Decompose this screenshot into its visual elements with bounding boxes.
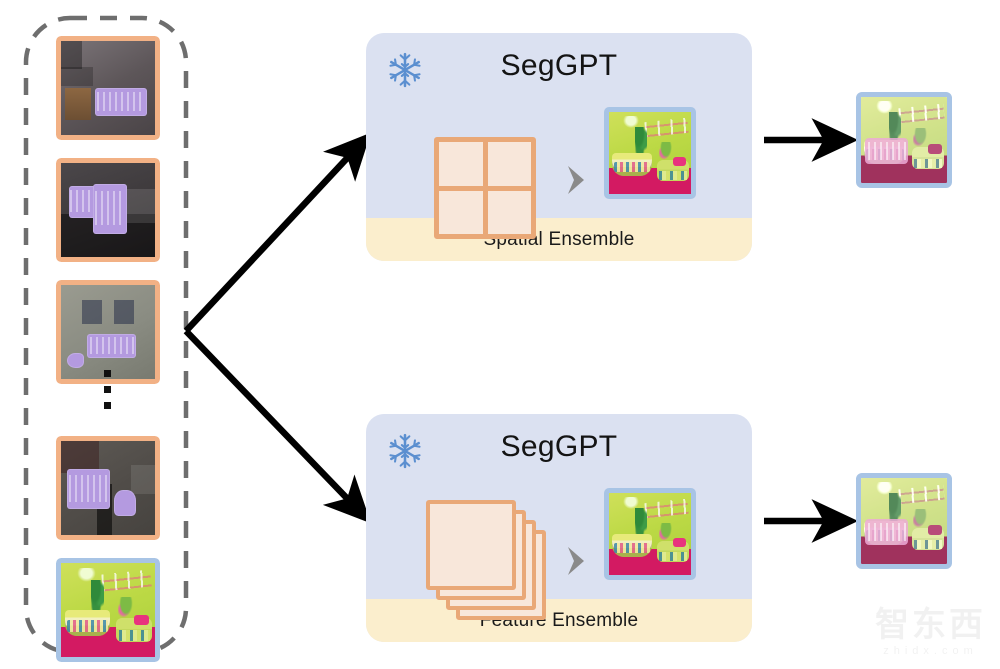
example-image-3 (61, 285, 155, 379)
chevron-right-icon (562, 163, 592, 197)
example-thumbnail-n (56, 436, 160, 540)
example-image-1 (61, 41, 155, 135)
list-item[interactable] (56, 158, 160, 262)
example-thumbnail-2 (56, 158, 160, 262)
feature-stack-graphic (426, 500, 566, 620)
watermark-en: zhidx.com (875, 645, 986, 657)
example-thumbnail-1 (56, 36, 160, 140)
feature-input-preview (604, 488, 696, 580)
spatial-panel-body: SegGPT (366, 33, 752, 218)
arrow-to-feature-branch (186, 331, 364, 516)
example-image-n (61, 441, 155, 535)
feature-output-thumbnail[interactable] (856, 473, 952, 569)
example-image-2 (61, 163, 155, 257)
feature-model-title: SegGPT (366, 430, 752, 464)
spatial-model-title: SegGPT (366, 49, 752, 83)
query-image-frame (56, 558, 160, 662)
ellipsis-indicator (104, 370, 111, 409)
predicted-mask (865, 138, 908, 164)
predicted-mask (865, 519, 908, 545)
list-item[interactable] (56, 436, 160, 540)
spatial-output-thumbnail[interactable] (856, 92, 952, 188)
spatial-input-preview (604, 107, 696, 199)
list-item[interactable] (56, 36, 160, 140)
feature-panel-body: SegGPT (366, 414, 752, 599)
query-image-thumbnail[interactable] (56, 558, 160, 662)
arrow-to-spatial-branch (186, 140, 364, 331)
watermark: 智东西 zhidx.com (875, 608, 986, 657)
chevron-right-icon (562, 544, 592, 578)
spatial-ensemble-label: Spatial Ensemble (366, 218, 752, 261)
example-thumbnail-3 (56, 280, 160, 384)
query-image (61, 563, 155, 657)
diagram-canvas: SegGPT Spatial Ensemble (0, 0, 1000, 669)
list-item[interactable] (56, 280, 160, 384)
spatial-grid-graphic (434, 137, 536, 239)
spatial-ensemble-panel: SegGPT Spatial Ensemble (366, 33, 752, 261)
feature-ensemble-panel: SegGPT Feature Ensemble (366, 414, 752, 642)
watermark-cn: 智东西 (875, 608, 986, 642)
